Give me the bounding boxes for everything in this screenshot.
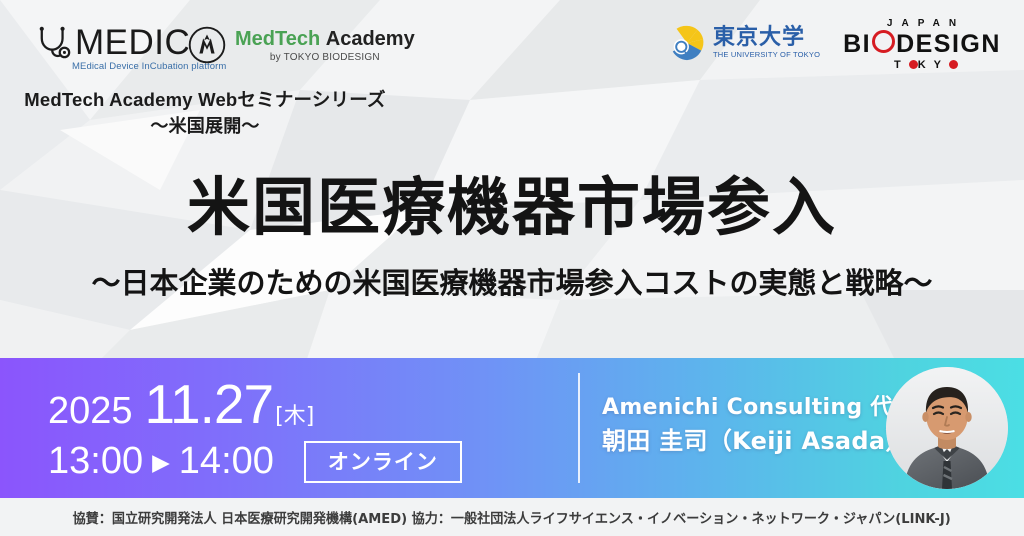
series-line2: 〜米国展開〜 <box>0 113 410 140</box>
event-datetime-block: 2025 11.27 [木] 13:00 ▶ 14:00 オンライン <box>48 372 462 483</box>
time-arrow-icon: ▶ <box>152 443 170 481</box>
series-heading: MedTech Academy Webセミナーシリーズ 〜米国展開〜 <box>0 86 410 140</box>
mta-tagline: by TOKYO BIODESIGN <box>235 52 415 63</box>
utokyo-name-en: THE UNIVERSITY OF TOKYO <box>713 50 820 60</box>
format-badge: オンライン <box>304 441 462 483</box>
series-line1: MedTech Academy Webセミナーシリーズ <box>0 86 410 113</box>
event-time-end: 14:00 <box>179 440 274 483</box>
mta-monogram-icon <box>188 26 226 64</box>
medtech-academy-logo: MedTech Academy by TOKYO BIODESIGN <box>188 26 415 64</box>
event-month-day: 11.27 <box>145 372 274 436</box>
biodesign-o-ring-icon <box>872 30 895 53</box>
footer-sponsors-text: 協賛：国立研究開発法人 日本医療研究開発機構(AMED) 協力：一般社団法人ライ… <box>73 507 951 527</box>
biodesign-main-text: BIDESIGN <box>836 30 1008 58</box>
utokyo-name-jp: 東京大学 <box>713 26 820 50</box>
biodesign-ky: KY <box>918 59 949 71</box>
biodesign-japan-text: JAPAN <box>836 18 1008 30</box>
japan-biodesign-logo: JAPAN BIDESIGN TKY <box>836 18 1008 72</box>
event-time-row: 13:00 ▶ 14:00 オンライン <box>48 440 462 483</box>
biodesign-tokyo-text: TKY <box>836 58 1008 72</box>
footer-bar: 協賛：国立研究開発法人 日本医療研究開発機構(AMED) 協力：一般社団法人ライ… <box>0 498 1024 536</box>
biodesign-dot-1-icon <box>909 60 918 69</box>
event-year: 2025 <box>48 390 133 433</box>
stethoscope-icon <box>36 26 74 60</box>
university-of-tokyo-logo: 東京大学 THE UNIVERSITY OF TOKYO <box>668 24 820 62</box>
banner-divider <box>578 373 580 483</box>
utokyo-seal-icon <box>668 24 706 62</box>
event-date-row: 2025 11.27 [木] <box>48 372 462 436</box>
mta-title-part2: Academy <box>326 28 415 50</box>
seminar-poster: MEDIC MEdical Device InCubation platform… <box>0 0 1024 536</box>
event-day-of-week: [木] <box>275 398 314 430</box>
speaker-name: 朝田 圭司（Keiji Asada）氏 <box>602 424 892 458</box>
page-title: 米国医療機器市場参入 <box>0 172 1024 244</box>
speaker-portrait-image <box>886 367 1008 489</box>
biodesign-bi: BI <box>843 30 871 58</box>
biodesign-t: T <box>894 59 909 71</box>
mta-title-part1: MedTech <box>235 28 320 50</box>
speaker-avatar <box>886 367 1008 489</box>
speaker-info: Amenichi Consulting 代表 朝田 圭司（Keiji Asada… <box>602 392 892 458</box>
event-banner: 2025 11.27 [木] 13:00 ▶ 14:00 オンライン Ameni… <box>0 358 1024 498</box>
page-subtitle: 〜日本企業のための米国医療機器市場参入コストの実態と戦略〜 <box>0 262 1024 304</box>
logo-bar: MEDIC MEdical Device InCubation platform… <box>0 0 1024 86</box>
biodesign-dot-2-icon <box>949 60 958 69</box>
speaker-organization: Amenichi Consulting 代表 <box>602 392 892 424</box>
medic-wordmark: MEDIC <box>75 26 190 60</box>
event-time-start: 13:00 <box>48 440 143 483</box>
mta-title: MedTech Academy <box>235 28 415 50</box>
biodesign-design: DESIGN <box>896 30 1001 58</box>
